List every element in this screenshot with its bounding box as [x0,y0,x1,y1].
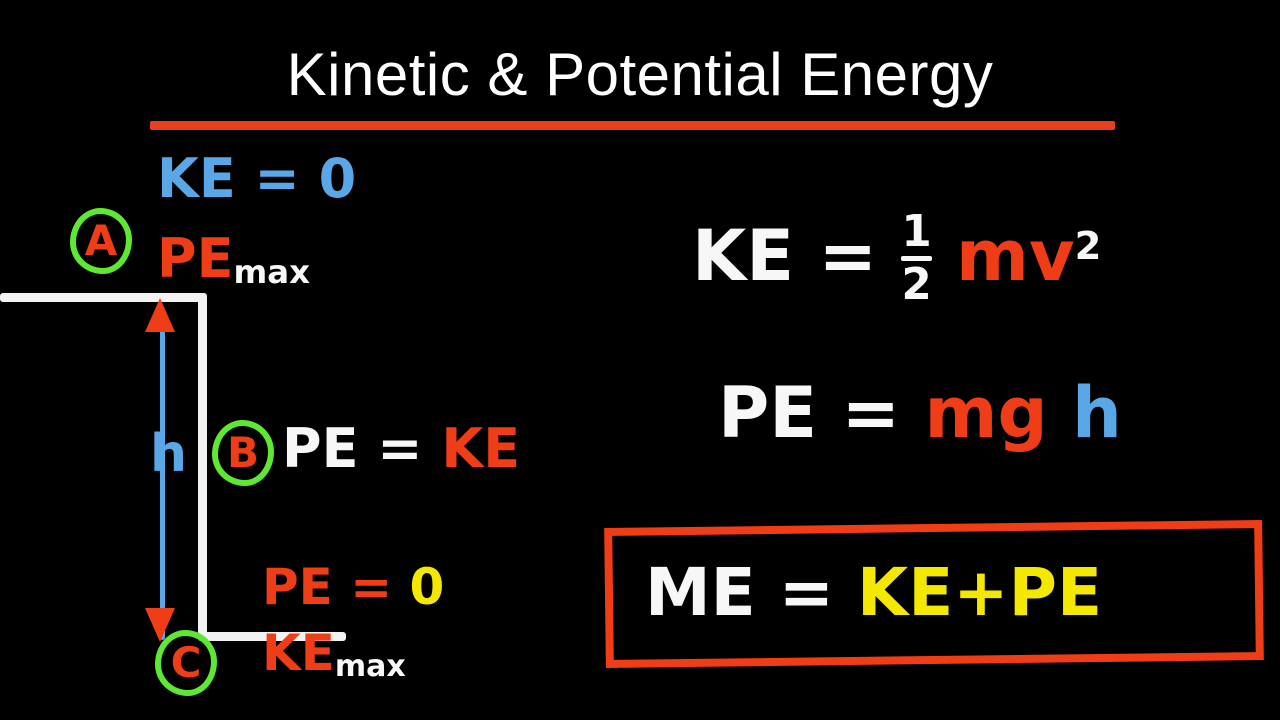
kinetic-energy-formula: KE = 1 2 mv2 [692,212,1101,310]
point-b-equals-sign: = [377,417,422,480]
point-c-pe-equals-text: PE = [262,558,392,616]
point-c-zero-value: 0 [410,558,445,616]
point-c-ke-max-label: KEmax [262,628,406,678]
ke-formula-mv-term: mv [956,215,1075,297]
point-badge-a: A [70,208,132,274]
ke-fraction-numerator: 1 [901,210,931,254]
height-label-h: h [150,428,187,480]
me-formula-pe-term: PE [1009,554,1102,631]
point-b-equation: PE = KE [282,422,520,476]
ke-formula-one-half-fraction: 1 2 [901,210,931,308]
me-formula-equals-sign: = [779,554,834,631]
point-c-ke-subscript: max [335,649,406,684]
point-a-pe-text: PE [157,227,233,290]
diagram-top-platform-line [0,293,206,302]
me-formula-lhs: ME [645,554,756,631]
point-c-ke-text: KE [262,624,335,682]
mechanical-energy-formula: ME = KE+PE [645,560,1102,626]
point-a-ke-label: KE = 0 [157,152,356,206]
pe-formula-h-term: h [1072,372,1122,454]
point-b-letter: B [227,432,259,474]
title-underline-rule [150,121,1115,130]
pe-formula-mg-term: mg [925,372,1048,454]
ke-formula-equals-sign: = [818,215,877,297]
point-a-letter: A [85,220,118,262]
ke-fraction-denominator: 2 [901,263,931,307]
pe-formula-equals-sign: = [842,372,901,454]
ke-formula-exponent: 2 [1075,224,1102,269]
point-c-pe-zero-label: PE = 0 [262,562,444,612]
me-formula-ke-term: KE [857,554,953,631]
whiteboard-slide: Kinetic & Potential Energy h A KE = 0 PE… [0,0,1280,720]
page-title: Kinetic & Potential Energy [0,40,1280,109]
point-b-pe-text: PE [282,417,358,480]
point-a-pe-subscript: max [233,253,310,291]
pe-formula-lhs: PE [718,372,817,454]
me-formula-plus-sign: + [953,554,1008,631]
potential-energy-formula: PE = mg h [718,378,1122,448]
point-badge-b: B [212,420,274,486]
point-badge-c: C [155,630,217,696]
height-arrow-up-head [145,298,175,332]
point-c-letter: C [171,642,202,684]
ke-formula-lhs: KE [692,215,794,297]
point-a-pe-label: PEmax [157,232,310,286]
diagram-vertical-drop-line [198,293,207,641]
point-b-ke-text: KE [441,417,520,480]
